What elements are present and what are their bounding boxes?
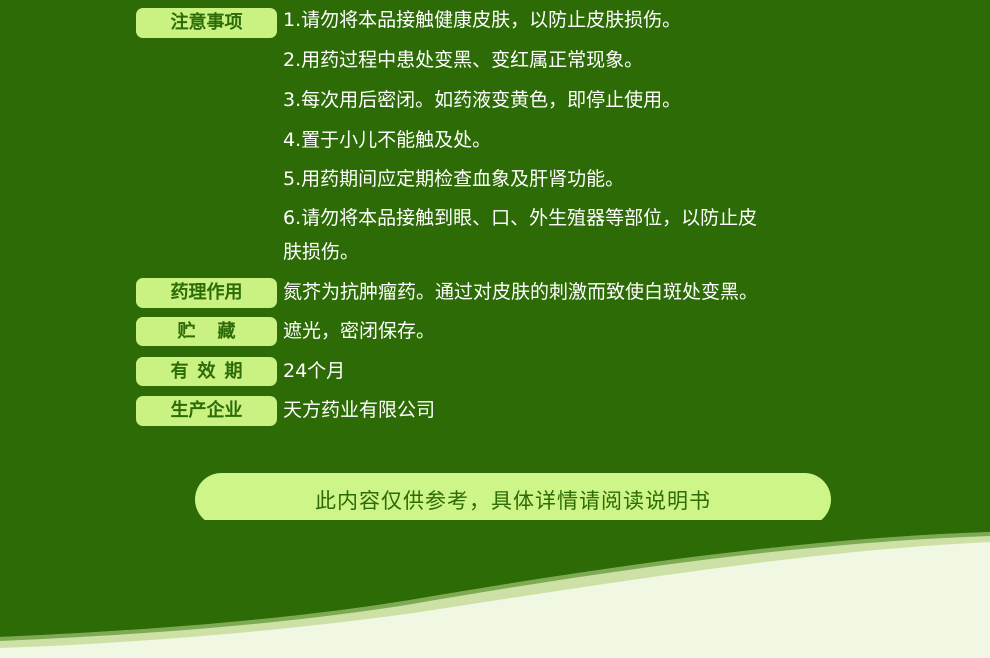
value-manufacturer: 天方药业有限公司	[283, 398, 435, 422]
label-shelf-life-text: 有效期	[162, 363, 252, 381]
caution-item-6: 6.请勿将本品接触到眼、口、外生殖器等部位，以防止皮	[283, 206, 757, 230]
label-pharmacology: 药理作用	[136, 278, 277, 308]
bottom-wave-decoration	[0, 520, 990, 658]
label-manufacturer-text: 生产企业	[171, 402, 243, 420]
caution-item-5: 5.用药期间应定期检查血象及肝肾功能。	[283, 167, 624, 191]
caution-item-4: 4.置于小儿不能触及处。	[283, 128, 491, 152]
caution-item-1: 1.请勿将本品接触健康皮肤，以防止皮肤损伤。	[283, 8, 681, 32]
label-manufacturer: 生产企业	[136, 396, 277, 426]
label-storage-text: 贮藏	[156, 323, 258, 341]
label-caution-text: 注意事项	[171, 14, 243, 32]
value-pharmacology: 氮芥为抗肿瘤药。通过对皮肤的刺激而致使白斑处变黑。	[283, 280, 758, 304]
label-storage: 贮藏	[136, 317, 277, 346]
label-caution: 注意事项	[136, 8, 277, 38]
label-pharmacology-text: 药理作用	[171, 284, 243, 302]
disclaimer-banner: 此内容仅供参考，具体详情请阅读说明书	[195, 473, 831, 526]
caution-item-6-continued: 肤损伤。	[283, 240, 359, 264]
disclaimer-text: 此内容仅供参考，具体详情请阅读说明书	[315, 485, 711, 515]
value-storage: 遮光，密闭保存。	[283, 319, 435, 343]
label-shelf-life: 有效期	[136, 357, 277, 386]
caution-item-2: 2.用药过程中患处变黑、变红属正常现象。	[283, 48, 643, 72]
value-shelf-life: 24个月	[283, 359, 345, 383]
product-info-panel: 注意事项 1.请勿将本品接触健康皮肤，以防止皮肤损伤。 2.用药过程中患处变黑、…	[0, 0, 990, 658]
caution-item-3: 3.每次用后密闭。如药液变黄色，即停止使用。	[283, 88, 681, 112]
content-layer: 注意事项 1.请勿将本品接触健康皮肤，以防止皮肤损伤。 2.用药过程中患处变黑、…	[0, 0, 990, 600]
